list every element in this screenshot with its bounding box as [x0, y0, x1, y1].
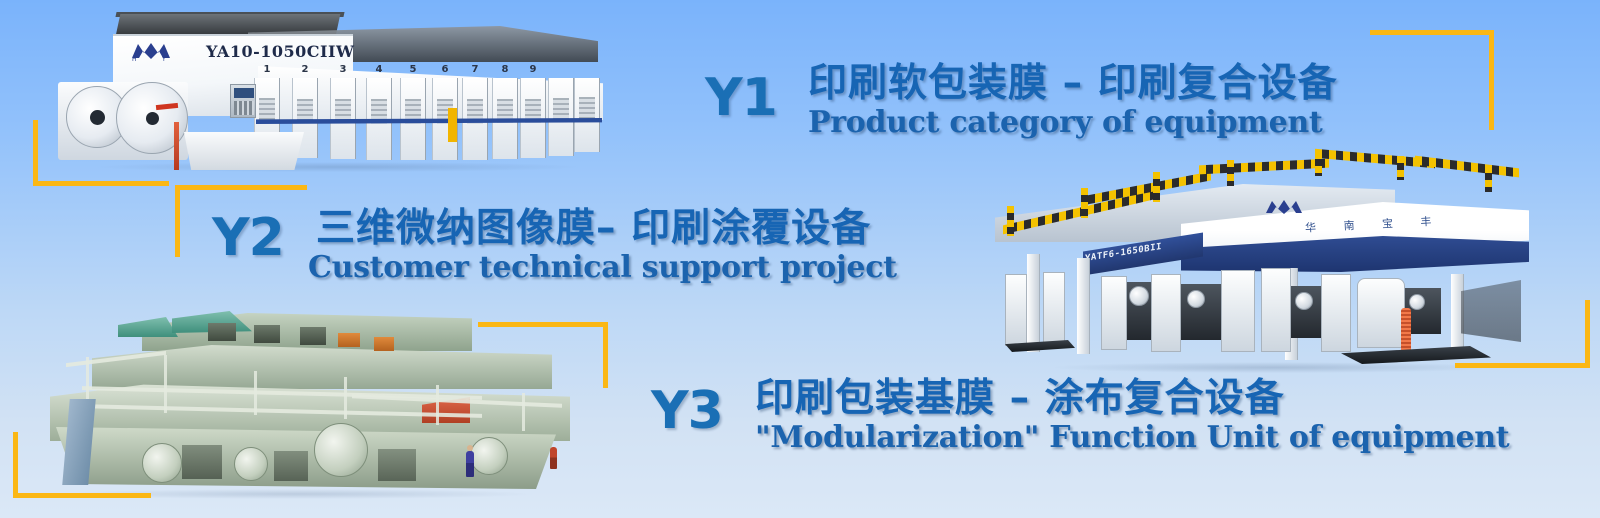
flexible-hose [1401, 308, 1411, 356]
block-code-y2: Y2 [212, 212, 284, 264]
machine-roller [1295, 292, 1313, 310]
coater-accent-part [338, 333, 360, 347]
coater-accent-part [374, 337, 394, 351]
machine-cabinet [1261, 268, 1291, 352]
block-title-cn-y3: 印刷包装基膜 – 涂布复合设备 [755, 377, 1509, 421]
coater-drive-unit [254, 325, 280, 343]
bracket-top-right [1370, 30, 1494, 130]
block-title-en-y1: Product category of equipment [808, 106, 1338, 139]
unit-number: 8 [493, 64, 517, 75]
coater-drive-unit [300, 327, 326, 345]
bracket-segment-vertical [603, 322, 608, 388]
bracket-segment-horizontal [1455, 363, 1590, 368]
hy-logo-icon: H Y [128, 40, 174, 62]
machine-cabinet [1357, 278, 1405, 348]
machine-cabinet [1221, 270, 1255, 352]
machine-roller [1409, 294, 1425, 310]
unit-panel [579, 97, 595, 119]
machine-cabinet [1005, 274, 1027, 346]
machine-image-laminator: 华 南 宝 丰 YATF6-1650BII [985, 150, 1530, 375]
machine-cabinet [1321, 274, 1351, 352]
bracket-left-upper [33, 120, 169, 186]
machine-cabinet [1043, 272, 1065, 348]
bracket-segment-vertical [33, 120, 38, 186]
unit-number: 4 [367, 64, 391, 75]
bracket-segment-horizontal [13, 493, 151, 498]
block-title-en-y3: "Modularization" Function Unit of equipm… [755, 421, 1509, 454]
bracket-segment-vertical [1585, 300, 1590, 368]
text-block-y3: 印刷包装基膜 – 涂布复合设备 "Modularization" Functio… [755, 377, 1509, 454]
unit-number: 5 [401, 64, 425, 75]
safety-rail-post [1007, 206, 1014, 236]
safety-rail-post [1081, 188, 1088, 218]
worker-figure [550, 447, 557, 469]
machine-model-label: YA10-1050CIIW [206, 42, 354, 61]
coater-machine-block [378, 449, 416, 481]
safety-rail-post [1485, 166, 1492, 192]
block-title-cn-y1: 印刷软包装膜 – 印刷复合设备 [808, 62, 1338, 106]
block-code-y1: Y1 [705, 72, 777, 124]
text-block-y1: 印刷软包装膜 – 印刷复合设备 Product category of equi… [808, 62, 1338, 139]
machine-roller [1187, 290, 1205, 308]
svg-text:H: H [132, 56, 137, 62]
unit-number: 7 [463, 64, 487, 75]
bracket-segment-vertical [175, 185, 180, 257]
walkway-post [522, 393, 525, 431]
press-yellow-marker [448, 108, 457, 142]
coater-drive-unit [208, 323, 236, 341]
block-title-en-y2: Customer technical support project [308, 251, 897, 284]
worker-figure [466, 451, 474, 477]
block-code-y3: Y3 [651, 385, 723, 437]
red-hose [174, 122, 179, 170]
hmi-screen [234, 88, 254, 98]
support-pillar [1077, 258, 1090, 354]
bracket-segment-horizontal [33, 181, 169, 186]
safety-rail-post [1315, 152, 1322, 176]
safety-rail-post [1153, 172, 1160, 202]
safety-rail-post [1227, 160, 1234, 186]
safety-rail [1199, 159, 1329, 175]
machine-cabinet [1151, 274, 1181, 352]
hy-logo-icon [1263, 198, 1305, 216]
bracket-segment-vertical [13, 432, 18, 498]
unit-panel [259, 98, 275, 121]
coater-drum [470, 437, 508, 475]
walkway-post [436, 385, 439, 425]
press-base [184, 132, 304, 170]
bracket-segment-vertical [1489, 30, 1494, 130]
walkway-post [344, 377, 347, 419]
bracket-bottom-right [1455, 300, 1590, 368]
bracket-bottom-left [13, 432, 151, 498]
text-block-y2: 三维微纳图像膜– 印刷涂覆设备 Customer technical suppo… [316, 207, 897, 284]
machine-cabinet [1101, 276, 1127, 350]
safety-rail-post [1397, 156, 1404, 180]
unit-number: 2 [293, 64, 317, 75]
walkway-post [254, 371, 257, 415]
unit-number: 1 [255, 64, 279, 75]
bracket-segment-horizontal [478, 322, 608, 327]
coater-machine-block [182, 445, 222, 479]
coater-hood [118, 317, 178, 337]
coater-drum [234, 447, 268, 481]
block-title-cn-y2: 三维微纳图像膜– 印刷涂覆设备 [316, 207, 897, 251]
support-pillar [1027, 254, 1040, 352]
unit-number: 3 [331, 64, 355, 75]
bracket-segment-horizontal [175, 185, 307, 190]
coater-machine-block [274, 451, 308, 481]
walkway-post [164, 355, 167, 413]
bracket-segment-horizontal [1370, 30, 1494, 35]
promo-banner: H Y YA10-1050CIIW 1 2 3 4 5 [0, 0, 1600, 518]
unit-number: 9 [521, 64, 545, 75]
machine-roller [1129, 286, 1149, 306]
unit-number: 6 [433, 64, 457, 75]
safety-rail [1415, 156, 1519, 178]
machine-shadow [1055, 362, 1495, 373]
hmi-keypad [234, 101, 254, 115]
press-hmi-panel [230, 84, 256, 118]
coater-drum [314, 423, 368, 477]
bracket-y2-top-right [478, 322, 608, 388]
svg-text:Y: Y [161, 56, 166, 62]
